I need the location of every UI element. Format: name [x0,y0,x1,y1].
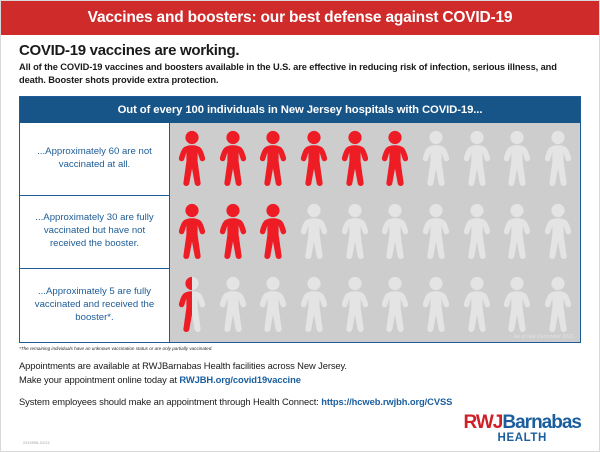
logo-health: HEALTH [464,433,582,445]
intro-body: All of the COVID-19 vaccines and booster… [19,61,581,87]
person-icon [340,203,370,261]
person-icon [177,130,207,188]
header-band: Vaccines and boosters: our best defense … [1,1,599,35]
system-employees-text: System employees should make an appointm… [19,396,321,407]
chart-icon-grid: As of late December 2021 [170,123,580,342]
person-icon [258,276,288,334]
person-icon [218,203,248,261]
rwjbarnabas-logo: RWJBarnabas HEALTH [464,413,582,445]
person-icon [218,130,248,188]
person-icon [421,130,451,188]
person-icon [218,276,248,334]
intro-heading: COVID-19 vaccines are working. [19,42,581,59]
infographic-page: Vaccines and boosters: our best defense … [0,0,600,452]
person-icon [380,276,410,334]
bottom-copy: Appointments are available at RWJBarnaba… [19,359,581,407]
pictogram-chart: Out of every 100 individuals in New Jers… [19,96,581,343]
document-code: 2310996-01/22 [23,441,50,445]
logo-wordmark: RWJBarnabas [464,413,582,432]
appointments-line1: Appointments are available at RWJBarnaba… [19,359,581,373]
person-icon [340,276,370,334]
chart-title: Out of every 100 individuals in New Jers… [20,97,580,123]
person-icon [177,276,207,334]
icon-row [170,269,580,342]
page-title: Vaccines and boosters: our best defense … [88,9,513,27]
footer: 2310996-01/22 RWJBarnabas HEALTH [1,409,599,451]
person-icon [258,203,288,261]
chart-row-label: ...Approximately 30 are fully vaccinated… [20,196,170,269]
person-icon [380,203,410,261]
person-icon [299,130,329,188]
chart-annotation: As of late December 2021 [514,334,574,340]
chart-footnote: *The remaining individuals have an unkno… [19,346,581,351]
chart-row-label: ...Approximately 5 are fully vaccinated … [20,269,170,342]
person-icon [340,130,370,188]
person-icon [543,203,573,261]
system-employees-line: System employees should make an appointm… [19,396,581,407]
intro-section: COVID-19 vaccines are working. All of th… [1,35,599,87]
person-icon [421,203,451,261]
health-connect-link[interactable]: https://hcweb.rwjbh.org/CVSS [321,396,452,407]
chart-label-column: ...Approximately 60 are not vaccinated a… [20,123,170,342]
person-icon [462,276,492,334]
icon-row [170,196,580,269]
appointments-line2: Make your appointment online today at RW… [19,373,581,387]
logo-barnabas: Barnabas [502,412,581,433]
person-icon [502,130,532,188]
logo-rwj: RWJ [464,412,503,433]
person-icon [421,276,451,334]
icon-row [170,123,580,196]
person-icon [543,276,573,334]
chart-body: ...Approximately 60 are not vaccinated a… [20,123,580,342]
person-icon [462,130,492,188]
person-icon [299,203,329,261]
person-icon [462,203,492,261]
vaccine-link[interactable]: RWJBH.org/covid19vaccine [179,374,300,385]
person-icon [258,130,288,188]
chart-row-label: ...Approximately 60 are not vaccinated a… [20,123,170,196]
person-icon [502,203,532,261]
person-icon [543,130,573,188]
person-icon [380,130,410,188]
person-icon [299,276,329,334]
person-icon [177,203,207,261]
person-icon [502,276,532,334]
appointments-line2-text: Make your appointment online today at [19,374,179,385]
